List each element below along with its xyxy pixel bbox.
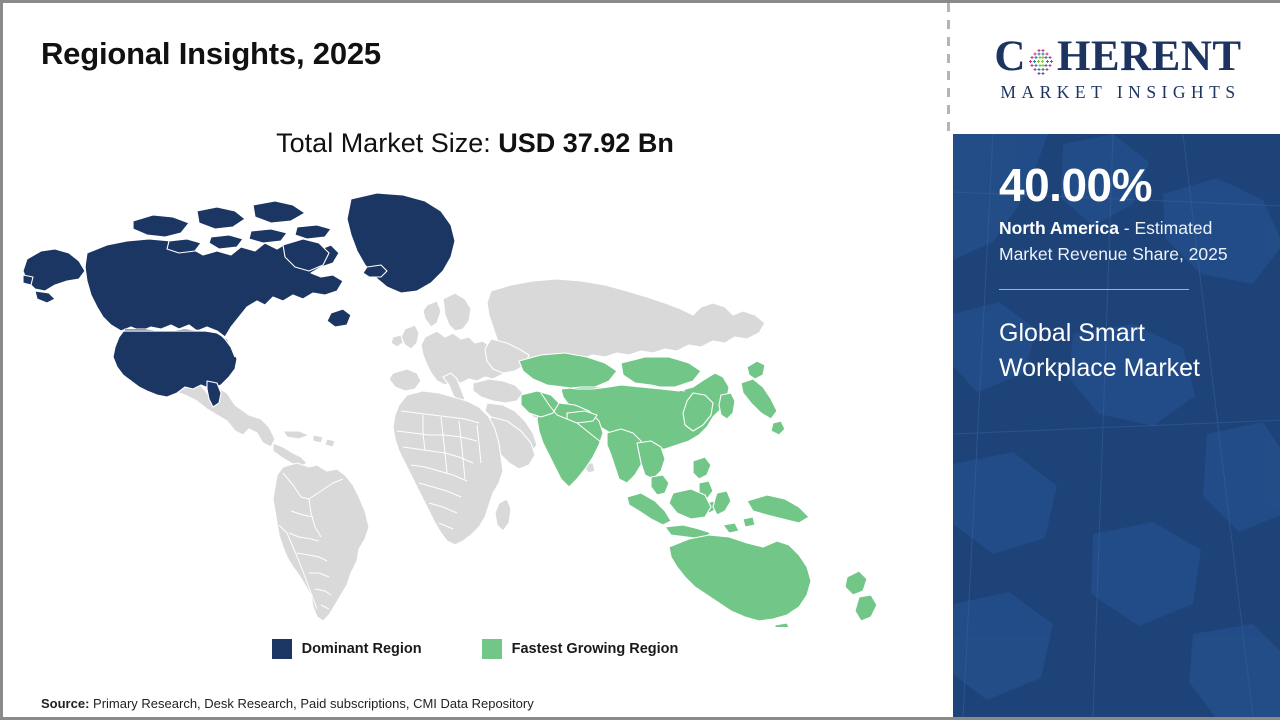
regional-insights-infographic: Regional Insights, 2025 Total Market Siz… xyxy=(0,0,1280,720)
brand-logo: C xyxy=(953,3,1280,134)
legend-label-fastest-growing: Fastest Growing Region xyxy=(512,641,679,657)
logo-wordmark: C xyxy=(994,35,1241,78)
source-note: Source: Primary Research, Desk Research,… xyxy=(41,696,534,711)
map-inactive-regions xyxy=(171,279,765,621)
left-content-area: Regional Insights, 2025 Total Market Siz… xyxy=(3,3,947,717)
panel-divider xyxy=(947,3,950,137)
legend-item-fastest-growing-region: Fastest Growing Region xyxy=(482,639,679,659)
stats-panel: 40.00% North America - Estimated Market … xyxy=(953,134,1280,717)
world-map-svg xyxy=(21,181,921,627)
logo-letters-herent: HERENT xyxy=(1057,35,1242,78)
legend-item-dominant-region: Dominant Region xyxy=(272,639,422,659)
total-market-size: Total Market Size: USD 37.92 Bn xyxy=(3,128,947,159)
panel-divider-rule xyxy=(999,289,1189,290)
source-text: Primary Research, Desk Research, Paid su… xyxy=(89,696,533,711)
source-label: Source: xyxy=(41,696,89,711)
logo-letter-c: C xyxy=(994,35,1026,78)
page-title: Regional Insights, 2025 xyxy=(41,36,381,72)
market-name: Global Smart Workplace Market xyxy=(999,316,1224,386)
legend-label-dominant: Dominant Region xyxy=(302,641,422,657)
market-share-percent: 40.00% xyxy=(999,161,1257,209)
market-share-caption: North America - Estimated Market Revenue… xyxy=(999,216,1257,267)
map-dominant-regions xyxy=(23,193,455,407)
total-market-size-label: Total Market Size: xyxy=(276,128,491,158)
dotted-globe-icon xyxy=(1026,43,1056,73)
legend-swatch-fastest-growing-icon xyxy=(482,639,502,659)
stats-panel-content: 40.00% North America - Estimated Market … xyxy=(953,134,1280,386)
world-map-container xyxy=(21,181,921,627)
market-share-region: North America xyxy=(999,218,1119,238)
map-legend: Dominant Region Fastest Growing Region xyxy=(3,639,947,659)
logo-subtitle: MARKET INSIGHTS xyxy=(995,82,1240,103)
right-panel: C xyxy=(953,3,1280,717)
total-market-size-value: USD 37.92 Bn xyxy=(498,128,674,158)
legend-swatch-dominant-icon xyxy=(272,639,292,659)
map-fastest-growing-regions xyxy=(519,353,877,627)
